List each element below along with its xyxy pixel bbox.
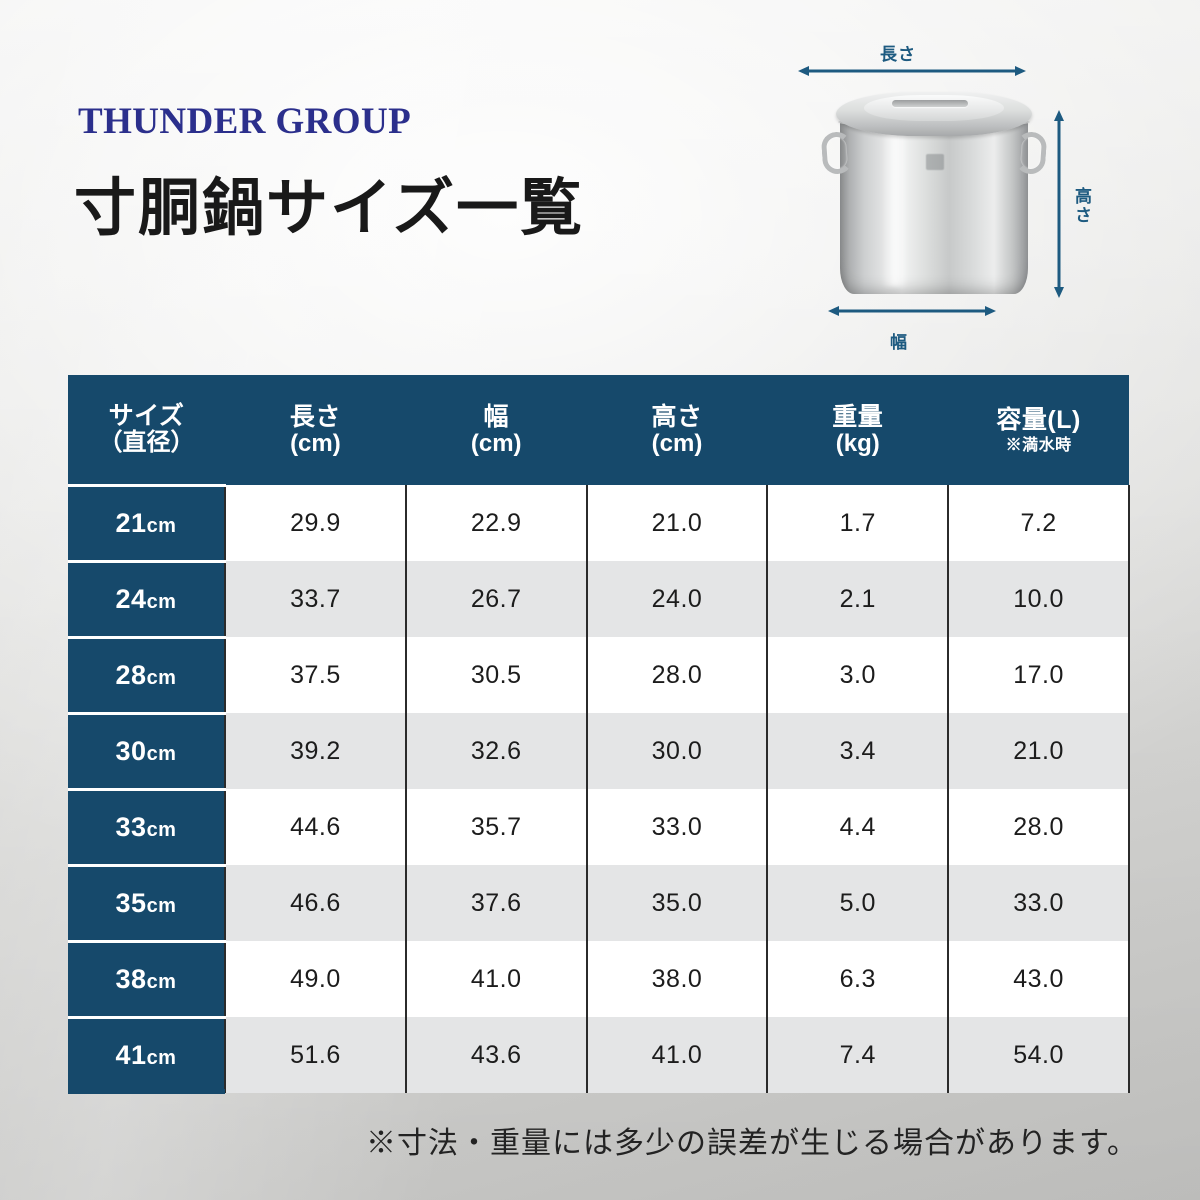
cell-size: 35cm: [68, 865, 225, 941]
footnote-text: ※寸法・重量には多少の誤差が生じる場合があります。: [366, 1118, 1138, 1162]
cell-length: 44.6: [225, 789, 406, 865]
cell-length: 51.6: [225, 1017, 406, 1093]
double-arrow-horizontal-icon: [828, 304, 996, 318]
cell-capacity: 7.2: [948, 485, 1129, 561]
table-row: 21cm 29.9 22.9 21.0 1.7 7.2: [68, 485, 1129, 561]
table-bottom-accent-bar: [68, 1089, 225, 1094]
table-header-row: サイズ （直径） 長さ (cm) 幅 (cm) 高さ (cm) 重量 (kg) …: [68, 375, 1129, 485]
cell-size: 41cm: [68, 1017, 225, 1093]
cell-height: 30.0: [587, 713, 768, 789]
cell-weight: 7.4: [767, 1017, 948, 1093]
cell-length: 29.9: [225, 485, 406, 561]
cell-height: 28.0: [587, 637, 768, 713]
dimension-label-width: 幅: [890, 328, 908, 353]
cell-length: 46.6: [225, 865, 406, 941]
cell-height: 21.0: [587, 485, 768, 561]
cell-size: 38cm: [68, 941, 225, 1017]
cell-width: 43.6: [406, 1017, 587, 1093]
cell-size: 30cm: [68, 713, 225, 789]
cell-capacity: 43.0: [948, 941, 1129, 1017]
dimension-label-height: 高さ: [1069, 187, 1094, 225]
cell-width: 30.5: [406, 637, 587, 713]
cell-width: 41.0: [406, 941, 587, 1017]
column-header-height: 高さ (cm): [587, 375, 768, 485]
column-header-capacity: 容量(L) ※満水時: [948, 375, 1129, 485]
cell-capacity: 33.0: [948, 865, 1129, 941]
pot-handle-left: [821, 131, 854, 175]
table-row: 35cm 46.6 37.6 35.0 5.0 33.0: [68, 865, 1129, 941]
cell-capacity: 17.0: [948, 637, 1129, 713]
cell-length: 37.5: [225, 637, 406, 713]
product-image-block: 長さ 幅 高さ: [786, 32, 1106, 362]
brand-logo-text: THUNDER GROUP: [78, 100, 411, 143]
pot-lid-handle: [892, 100, 968, 107]
pot-body: [840, 118, 1028, 294]
cell-size: 24cm: [68, 561, 225, 637]
cell-size: 21cm: [68, 485, 225, 561]
table-row: 24cm 33.7 26.7 24.0 2.1 10.0: [68, 561, 1129, 637]
cell-size: 28cm: [68, 637, 225, 713]
cell-width: 26.7: [406, 561, 587, 637]
column-header-length: 長さ (cm): [225, 375, 406, 485]
cell-length: 33.7: [225, 561, 406, 637]
cell-height: 38.0: [587, 941, 768, 1017]
cell-height: 24.0: [587, 561, 768, 637]
cell-length: 39.2: [225, 713, 406, 789]
size-specification-table: サイズ （直径） 長さ (cm) 幅 (cm) 高さ (cm) 重量 (kg) …: [68, 375, 1130, 1093]
cell-weight: 1.7: [767, 485, 948, 561]
pot-body-highlight: [882, 128, 908, 286]
cell-weight: 3.4: [767, 713, 948, 789]
column-header-size: サイズ （直径）: [68, 375, 225, 485]
table-row: 38cm 49.0 41.0 38.0 6.3 43.0: [68, 941, 1129, 1017]
column-header-width: 幅 (cm): [406, 375, 587, 485]
cell-weight: 2.1: [767, 561, 948, 637]
cell-width: 35.7: [406, 789, 587, 865]
cell-weight: 3.0: [767, 637, 948, 713]
double-arrow-vertical-icon: [1052, 110, 1066, 298]
cell-weight: 4.4: [767, 789, 948, 865]
cell-width: 22.9: [406, 485, 587, 561]
cell-capacity: 21.0: [948, 713, 1129, 789]
dimension-label-length: 長さ: [880, 40, 916, 65]
cell-capacity: 10.0: [948, 561, 1129, 637]
cell-weight: 6.3: [767, 941, 948, 1017]
cell-height: 41.0: [587, 1017, 768, 1093]
cell-weight: 5.0: [767, 865, 948, 941]
pot-brand-stamp: [926, 154, 944, 170]
cell-width: 37.6: [406, 865, 587, 941]
table-row: 41cm 51.6 43.6 41.0 7.4 54.0: [68, 1017, 1129, 1093]
page-title: 寸胴鍋サイズ一覧: [74, 157, 584, 247]
cell-size: 33cm: [68, 789, 225, 865]
cell-height: 35.0: [587, 865, 768, 941]
table-row: 33cm 44.6 35.7 33.0 4.4 28.0: [68, 789, 1129, 865]
cell-length: 49.0: [225, 941, 406, 1017]
stock-pot-illustration: [822, 84, 1046, 300]
cell-height: 33.0: [587, 789, 768, 865]
cell-width: 32.6: [406, 713, 587, 789]
cell-capacity: 54.0: [948, 1017, 1129, 1093]
pot-lid-top-face: [864, 95, 1004, 121]
table-row: 28cm 37.5 30.5 28.0 3.0 17.0: [68, 637, 1129, 713]
pot-handle-right: [1015, 131, 1048, 175]
cell-capacity: 28.0: [948, 789, 1129, 865]
table-row: 30cm 39.2 32.6 30.0 3.4 21.0: [68, 713, 1129, 789]
column-header-weight: 重量 (kg): [767, 375, 948, 485]
double-arrow-horizontal-icon: [798, 64, 1026, 78]
pot-lid: [836, 92, 1032, 136]
